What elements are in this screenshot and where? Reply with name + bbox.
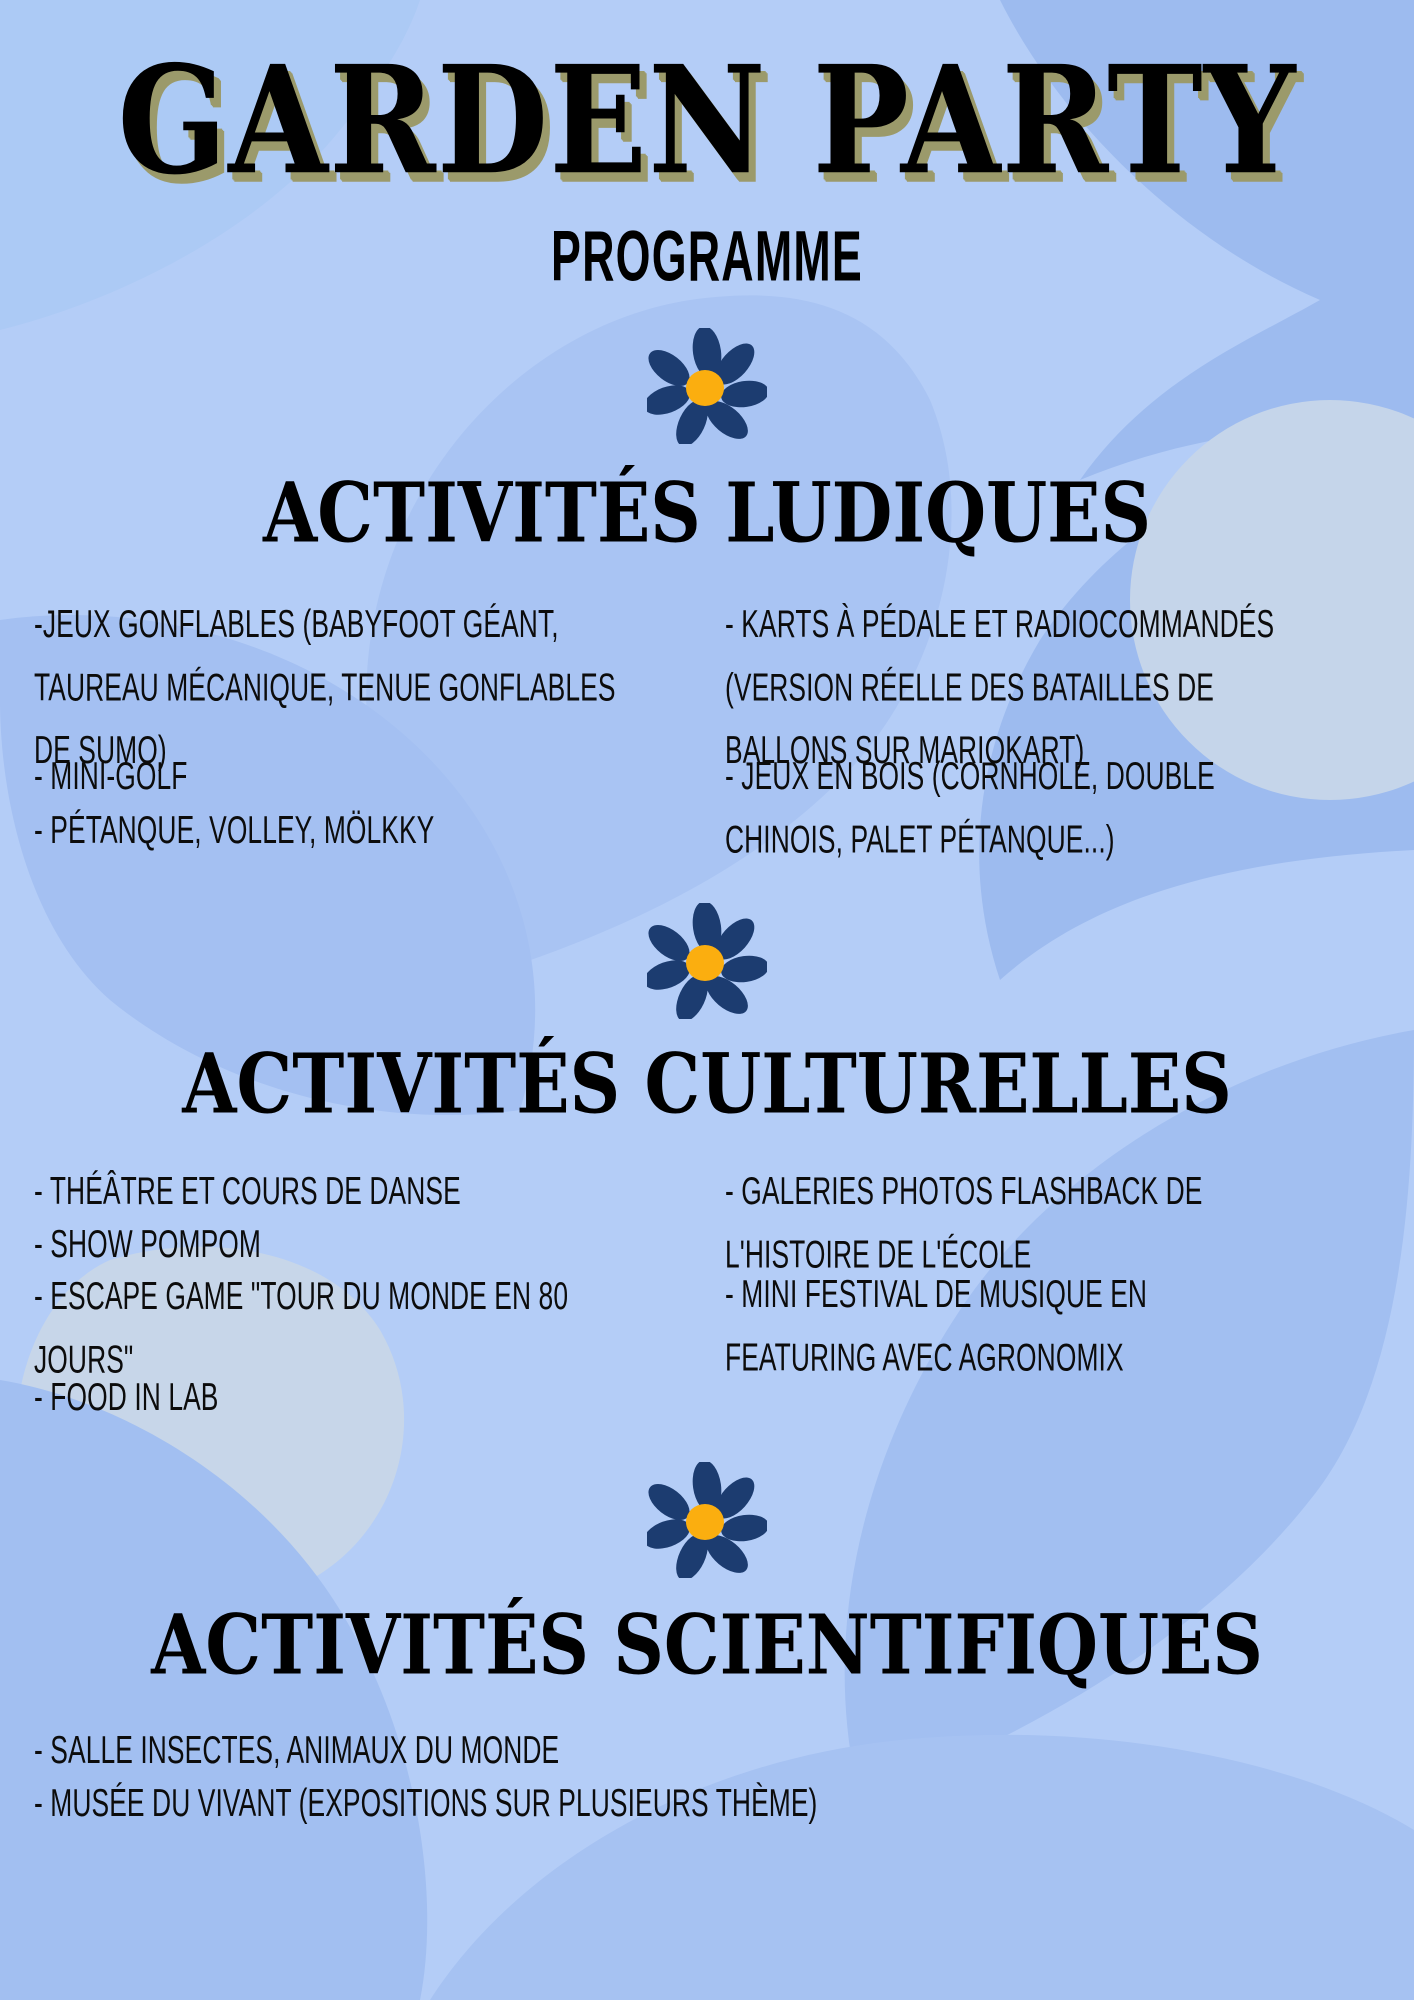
list-item: - SALLE INSECTES, ANIMAUX DU MONDE [34, 1720, 1380, 1769]
page-subtitle: PROGRAMME [141, 220, 1272, 292]
section-columns-ludiques: -JEUX GONFLABLES (BABYFOOT GÉANT, TAUREA… [0, 594, 1414, 849]
flower-center [686, 945, 724, 981]
flower-divider-1 [0, 328, 1414, 444]
list-item-text: - JEUX EN BOIS (CORNHOLE, DOUBLE CHINOIS… [725, 746, 1301, 872]
list-item: - KARTS À PÉDALE ET RADIOCOMMANDÉS (VERS… [725, 594, 1380, 740]
section-heading-ludiques: ACTIVITÉS LUDIQUES [0, 472, 1414, 555]
section-columns-scientifiques: - SALLE INSECTES, ANIMAUX DU MONDE - MUS… [0, 1720, 1414, 1821]
section-scientifiques: ACTIVITÉS SCIENTIFIQUES - SALLE INSECTES… [0, 1610, 1414, 1821]
flower-icon [647, 328, 767, 444]
flower-divider-2 [0, 903, 1414, 1019]
title-block: GARDEN PARTY [0, 0, 1414, 172]
section-columns-culturelles: - THÉÂTRE ET COURS DE DANSE - SHOW POMPO… [0, 1161, 1414, 1416]
flower-icon [647, 1462, 767, 1578]
list-item: - GALERIES PHOTOS FLASHBACK DE L'HISTOIR… [725, 1161, 1380, 1258]
list-item: - PÉTANQUE, VOLLEY, MÖLKKY [34, 800, 697, 849]
section-heading-culturelles: ACTIVITÉS CULTURELLES [0, 1043, 1414, 1126]
column-left-ludiques: -JEUX GONFLABLES (BABYFOOT GÉANT, TAUREA… [34, 594, 697, 849]
list-item-text: - PÉTANQUE, VOLLEY, MÖLKKY [34, 800, 434, 863]
list-item: - MINI FESTIVAL DE MUSIQUE EN FEATURING … [725, 1264, 1380, 1361]
section-culturelles: ACTIVITÉS CULTURELLES - THÉÂTRE ET COURS… [0, 1049, 1414, 1416]
list-item: - MUSÉE DU VIVANT (EXPOSITIONS SUR PLUSI… [34, 1773, 1380, 1822]
page-title: GARDEN PARTY [117, 46, 1296, 195]
list-item: - JEUX EN BOIS (CORNHOLE, DOUBLE CHINOIS… [725, 746, 1380, 843]
list-item: - THÉÂTRE ET COURS DE DANSE [34, 1161, 697, 1210]
flower-center [686, 370, 724, 406]
flower-center [686, 1504, 724, 1540]
list-item-text: - MUSÉE DU VIVANT (EXPOSITIONS SUR PLUSI… [34, 1773, 817, 1836]
column-right-culturelles: - GALERIES PHOTOS FLASHBACK DE L'HISTOIR… [717, 1161, 1380, 1416]
section-heading-scientifiques: ACTIVITÉS SCIENTIFIQUES [0, 1604, 1414, 1687]
flower-divider-3 [0, 1462, 1414, 1578]
flower-icon [647, 903, 767, 1019]
column-left-scientifiques: - SALLE INSECTES, ANIMAUX DU MONDE - MUS… [34, 1720, 1380, 1821]
column-left-culturelles: - THÉÂTRE ET COURS DE DANSE - SHOW POMPO… [34, 1161, 697, 1416]
section-ludiques: ACTIVITÉS LUDIQUES -JEUX GONFLABLES (BAB… [0, 478, 1414, 849]
list-item-text: - MINI FESTIVAL DE MUSIQUE EN FEATURING … [725, 1264, 1301, 1390]
list-item: -JEUX GONFLABLES (BABYFOOT GÉANT, TAUREA… [34, 594, 697, 740]
poster-root: GARDEN PARTY PROGRAMME ACTIVITÉS LUDIQUE… [0, 0, 1414, 2000]
list-item: - ESCAPE GAME "TOUR DU MONDE EN 80 JOURS… [34, 1266, 697, 1363]
column-right-ludiques: - KARTS À PÉDALE ET RADIOCOMMANDÉS (VERS… [717, 594, 1380, 849]
list-item-text: - FOOD IN LAB [34, 1367, 219, 1430]
